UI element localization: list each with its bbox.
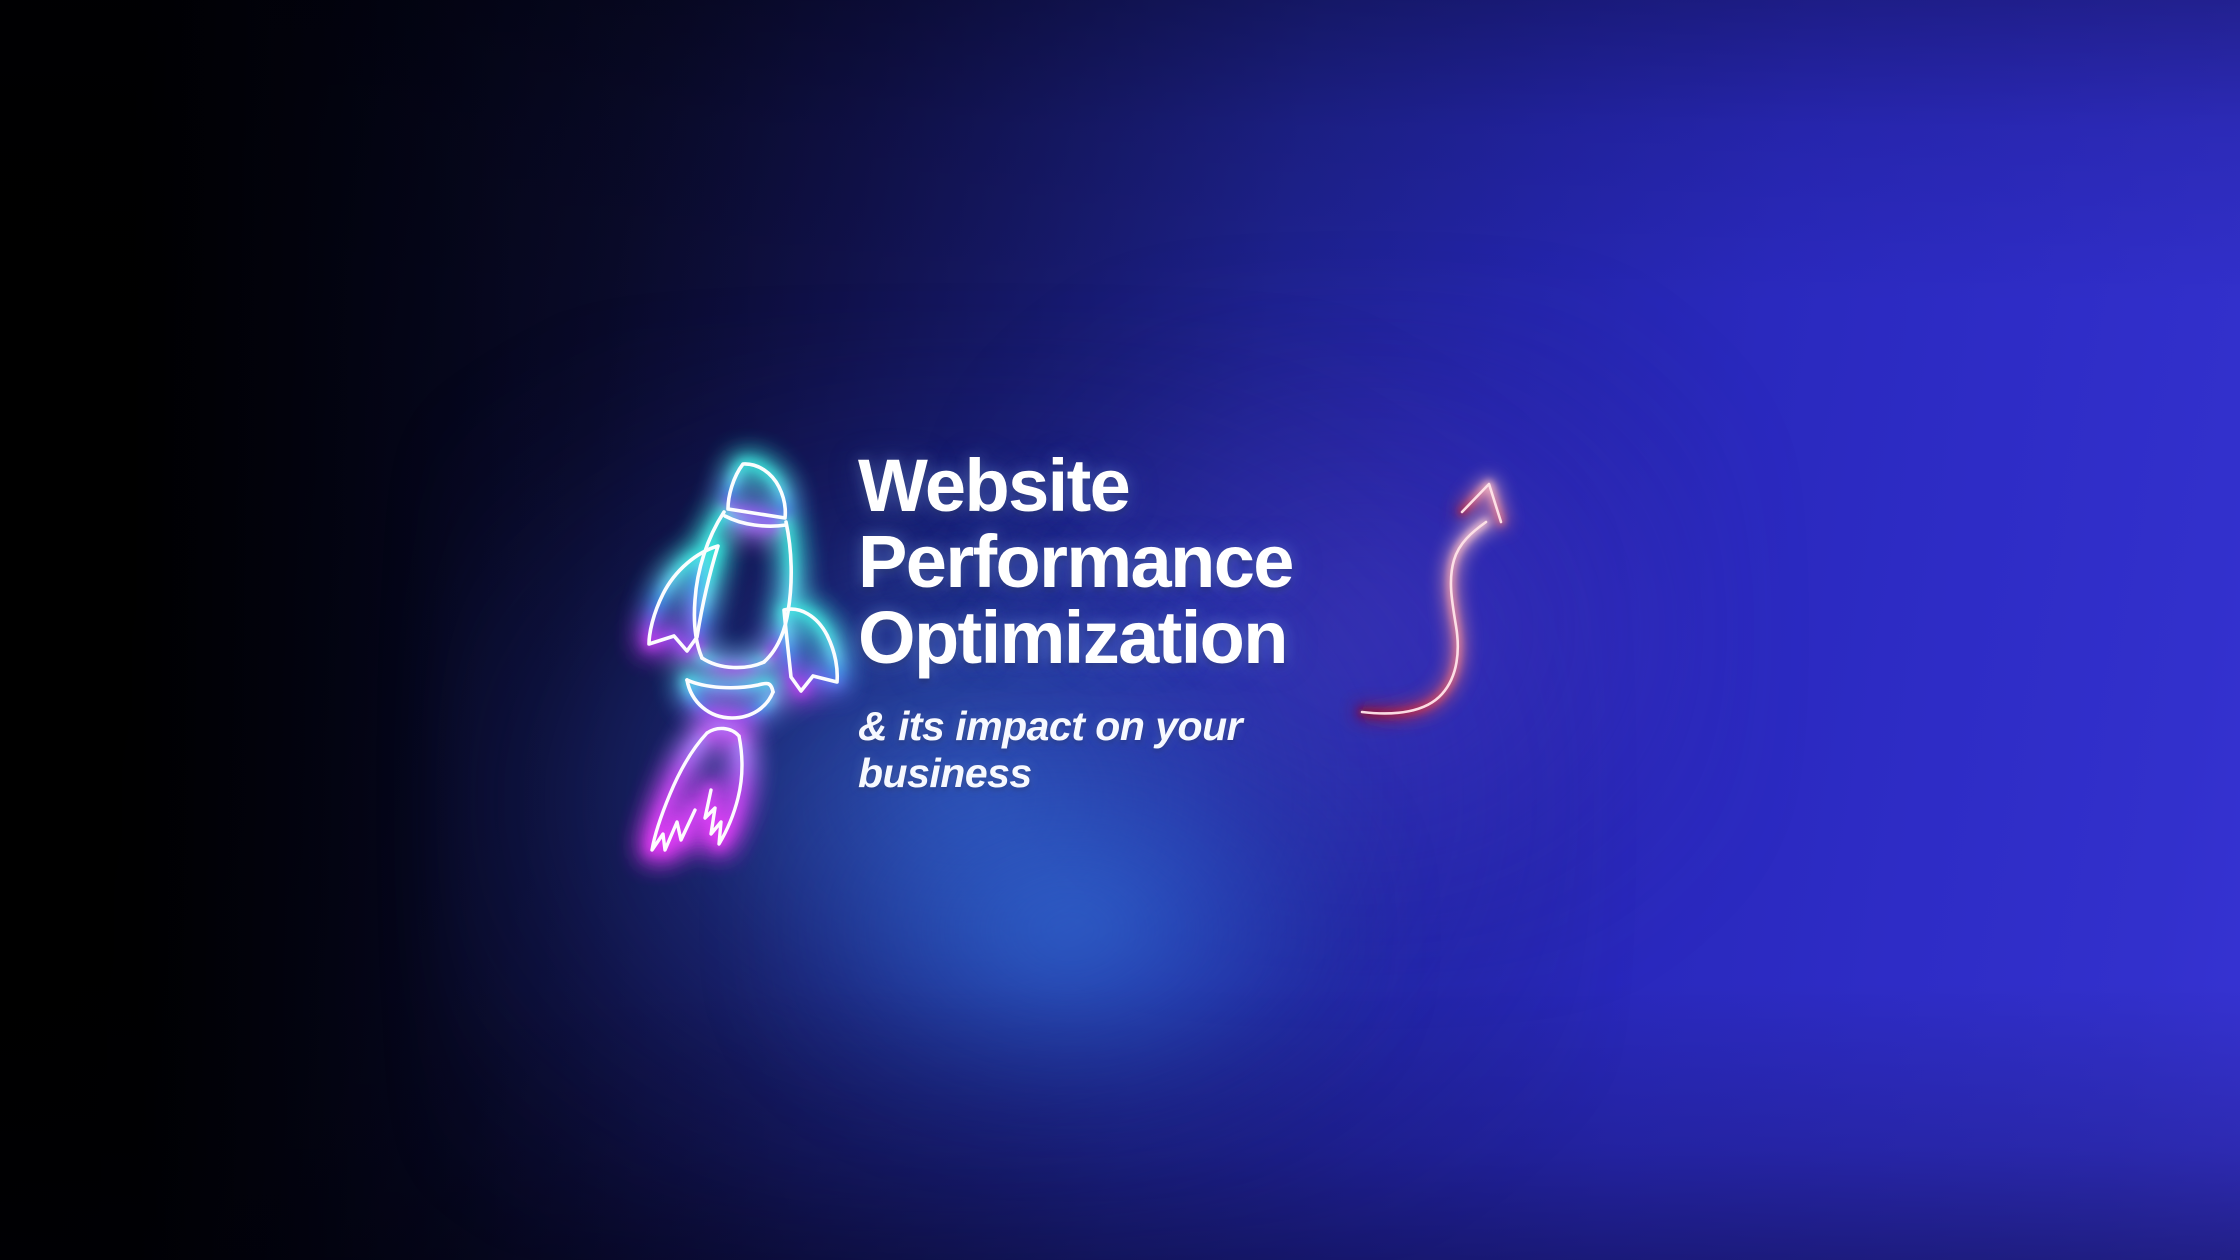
headline-line-3: Optimization xyxy=(858,600,1578,676)
headline-line-2: Performance xyxy=(858,524,1578,600)
rocket-icon xyxy=(625,430,875,870)
promo-banner: Website Performance Optimization & its i… xyxy=(0,0,2240,1260)
headline-line-1: Website xyxy=(858,448,1578,524)
page-title: Website Performance Optimization xyxy=(858,448,1578,677)
page-subtitle: & its impact on your business xyxy=(858,703,1258,798)
headline-block: Website Performance Optimization & its i… xyxy=(858,448,1578,798)
